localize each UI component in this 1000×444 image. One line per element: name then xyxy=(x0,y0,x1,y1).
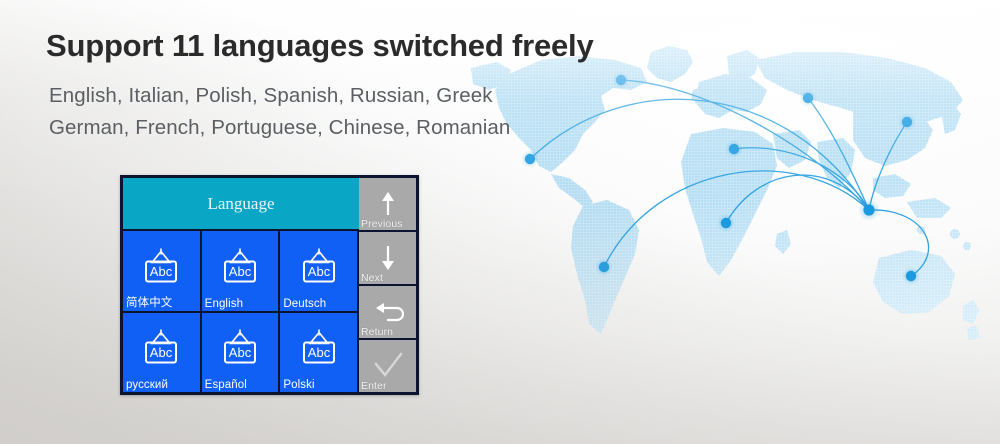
abc-sign-icon: Abc xyxy=(138,245,184,289)
abc-sign-icon: Abc xyxy=(217,245,263,289)
svg-text:Abc: Abc xyxy=(150,264,173,279)
language-tile-english[interactable]: Abc English xyxy=(202,231,281,311)
language-tile-espanol[interactable]: Abc Español xyxy=(202,313,281,393)
language-grid-area: Language Abc 简体中文 xyxy=(123,178,359,392)
node-japan xyxy=(902,117,912,127)
language-tile-label: English xyxy=(205,298,243,310)
node-europe xyxy=(729,144,739,154)
arrow-up-icon xyxy=(371,189,405,219)
enter-button-label: Enter xyxy=(361,380,387,392)
hub-node-china xyxy=(863,204,874,215)
world-map xyxy=(455,38,1000,368)
previous-button[interactable]: Previous xyxy=(359,178,416,232)
language-tile-simplified-chinese[interactable]: Abc 简体中文 xyxy=(123,231,202,311)
language-list-line-2: German, French, Portuguese, Chinese, Rom… xyxy=(49,116,510,140)
language-tile-label: Polski xyxy=(283,379,314,391)
next-button-label: Next xyxy=(361,272,383,284)
language-tile-label: Español xyxy=(205,379,247,391)
language-list-line-1: English, Italian, Polish, Spanish, Russi… xyxy=(49,84,493,108)
screen-header-title: Language xyxy=(123,178,359,231)
checkmark-icon xyxy=(371,351,405,381)
svg-text:Abc: Abc xyxy=(229,264,252,279)
enter-button[interactable]: Enter xyxy=(359,340,416,392)
language-tile-russian[interactable]: Abc русский xyxy=(123,313,202,393)
language-row-2: Abc русский Abc Español xyxy=(123,313,359,393)
abc-sign-icon: Abc xyxy=(296,245,342,289)
navigation-sidebar: Previous Next Return E xyxy=(359,178,416,392)
node-australia xyxy=(906,271,916,281)
language-tile-label: 简体中文 xyxy=(126,294,172,310)
next-button[interactable]: Next xyxy=(359,232,416,286)
svg-text:Abc: Abc xyxy=(150,345,173,360)
svg-text:Abc: Abc xyxy=(307,345,330,360)
svg-text:Abc: Abc xyxy=(229,345,252,360)
language-support-banner: Support 11 languages switched freely Eng… xyxy=(0,0,1000,444)
language-tile-label: Deutsch xyxy=(283,298,326,310)
abc-sign-icon: Abc xyxy=(138,327,184,371)
node-africa xyxy=(721,218,731,228)
return-button-label: Return xyxy=(361,326,393,338)
previous-button-label: Previous xyxy=(361,218,403,230)
language-tile-deutsch[interactable]: Abc Deutsch xyxy=(280,231,359,311)
language-row-1: Abc 简体中文 Abc English xyxy=(123,231,359,313)
device-language-screen: Language Abc 简体中文 xyxy=(120,175,419,395)
node-north-america xyxy=(616,75,626,85)
node-northern-europe xyxy=(803,93,813,103)
language-tile-label: русский xyxy=(126,379,168,391)
abc-sign-icon: Abc xyxy=(217,327,263,371)
node-usa xyxy=(525,154,535,164)
svg-text:Abc: Abc xyxy=(307,264,330,279)
abc-sign-icon: Abc xyxy=(296,327,342,371)
arrow-down-icon xyxy=(371,243,405,273)
node-south-america xyxy=(599,262,609,272)
map-landmasses xyxy=(455,38,1000,368)
return-arrow-icon xyxy=(371,297,405,327)
page-title: Support 11 languages switched freely xyxy=(46,28,594,64)
language-tile-polski[interactable]: Abc Polski xyxy=(280,313,359,393)
return-button[interactable]: Return xyxy=(359,286,416,340)
